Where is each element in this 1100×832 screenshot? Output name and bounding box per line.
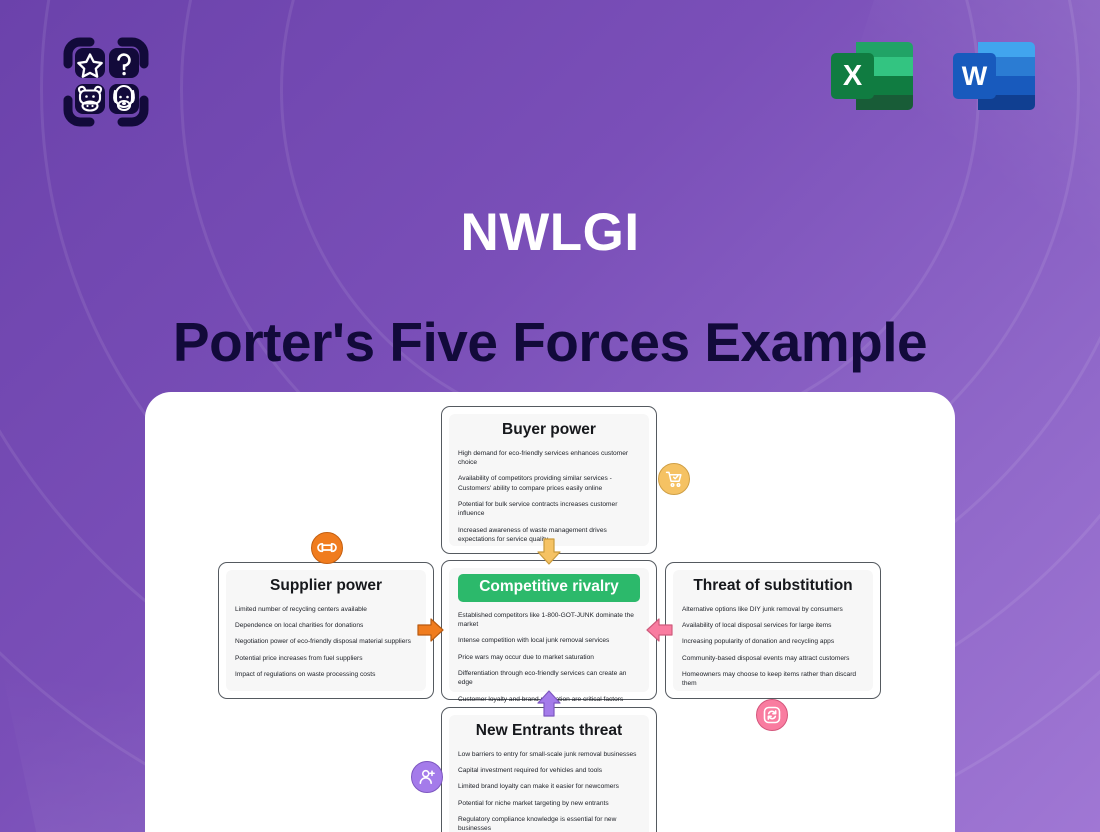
force-point: Potential price increases from fuel supp… [235, 654, 417, 663]
force-title-supplier: Supplier power [235, 577, 417, 596]
word-icon[interactable]: W [948, 28, 1044, 124]
arrow-left-substitution-to-rivalry [645, 616, 673, 644]
handshake-link-icon[interactable] [311, 532, 343, 564]
shopping-cart-icon[interactable] [658, 463, 690, 495]
force-point: Established competitors like 1-800-GOT-J… [458, 611, 640, 630]
office-icon-group: X W [824, 28, 1044, 124]
force-point: Potential for niche market targeting by … [458, 799, 640, 808]
force-title-entrants: New Entrants threat [458, 722, 640, 741]
force-points-entrants: Low barriers to entry for small-scale ju… [458, 750, 640, 832]
force-point: Availability of competitors providing si… [458, 474, 640, 493]
force-point: Homeowners may choose to keep items rath… [682, 670, 864, 689]
force-box-substitution[interactable]: Threat of substitution Alternative optio… [665, 562, 881, 699]
force-point: Capital investment required for vehicles… [458, 766, 640, 775]
force-point: Limited number of recycling centers avai… [235, 605, 417, 614]
force-title-substitution: Threat of substitution [682, 577, 864, 596]
force-points-substitution: Alternative options like DIY junk remova… [682, 605, 864, 689]
force-point: Alternative options like DIY junk remova… [682, 605, 864, 614]
force-point: Low barriers to entry for small-scale ju… [458, 750, 640, 759]
force-box-entrants[interactable]: New Entrants threat Low barriers to entr… [441, 707, 657, 832]
force-point: Limited brand loyalty can make it easier… [458, 782, 640, 791]
force-point: Dependence on local charities for donati… [235, 621, 417, 630]
force-title-buyer: Buyer power [458, 421, 640, 440]
force-point: Intense competition with local junk remo… [458, 636, 640, 645]
arrow-right-supplier-to-rivalry [417, 616, 445, 644]
excel-icon[interactable]: X [824, 28, 920, 124]
force-box-buyer[interactable]: Buyer power High demand for eco-friendly… [441, 406, 657, 554]
force-point: High demand for eco-friendly services en… [458, 449, 640, 468]
add-user-icon[interactable] [411, 761, 443, 793]
force-box-supplier[interactable]: Supplier power Limited number of recycli… [218, 562, 434, 699]
diagram-card: Buyer power High demand for eco-friendly… [145, 392, 955, 832]
force-point: Increasing popularity of donation and re… [682, 637, 864, 646]
force-point: Price wars may occur due to market satur… [458, 653, 640, 662]
force-point: Potential for bulk service contracts inc… [458, 500, 640, 519]
svg-text:W: W [962, 61, 988, 91]
force-point: Negotiation power of eco-friendly dispos… [235, 637, 417, 646]
five-forces-diagram: Buyer power High demand for eco-friendly… [145, 392, 955, 832]
arrow-down-buyer-to-rivalry [535, 538, 563, 566]
force-point: Differentiation through eco-friendly ser… [458, 669, 640, 688]
svg-text:X: X [843, 60, 863, 92]
force-points-supplier: Limited number of recycling centers avai… [235, 605, 417, 680]
brand-name: NWLGI [0, 206, 1100, 259]
refresh-swap-icon[interactable] [756, 699, 788, 731]
force-box-rivalry[interactable]: Competitive rivalry Established competit… [441, 560, 657, 700]
force-point: Community-based disposal events may attr… [682, 654, 864, 663]
force-point: Availability of local disposal services … [682, 621, 864, 630]
force-point: Impact of regulations on waste processin… [235, 670, 417, 679]
force-point: Regulatory compliance knowledge is essen… [458, 815, 640, 832]
arrow-up-entrants-to-rivalry [535, 689, 563, 717]
slide-canvas: X W NWLGI Porter's Five Forces Example B… [0, 0, 1100, 832]
qr-frame-quad-icon [46, 30, 166, 134]
force-points-buyer: High demand for eco-friendly services en… [458, 449, 640, 545]
page-title: Porter's Five Forces Example [0, 312, 1100, 373]
force-title-rivalry: Competitive rivalry [458, 574, 640, 602]
